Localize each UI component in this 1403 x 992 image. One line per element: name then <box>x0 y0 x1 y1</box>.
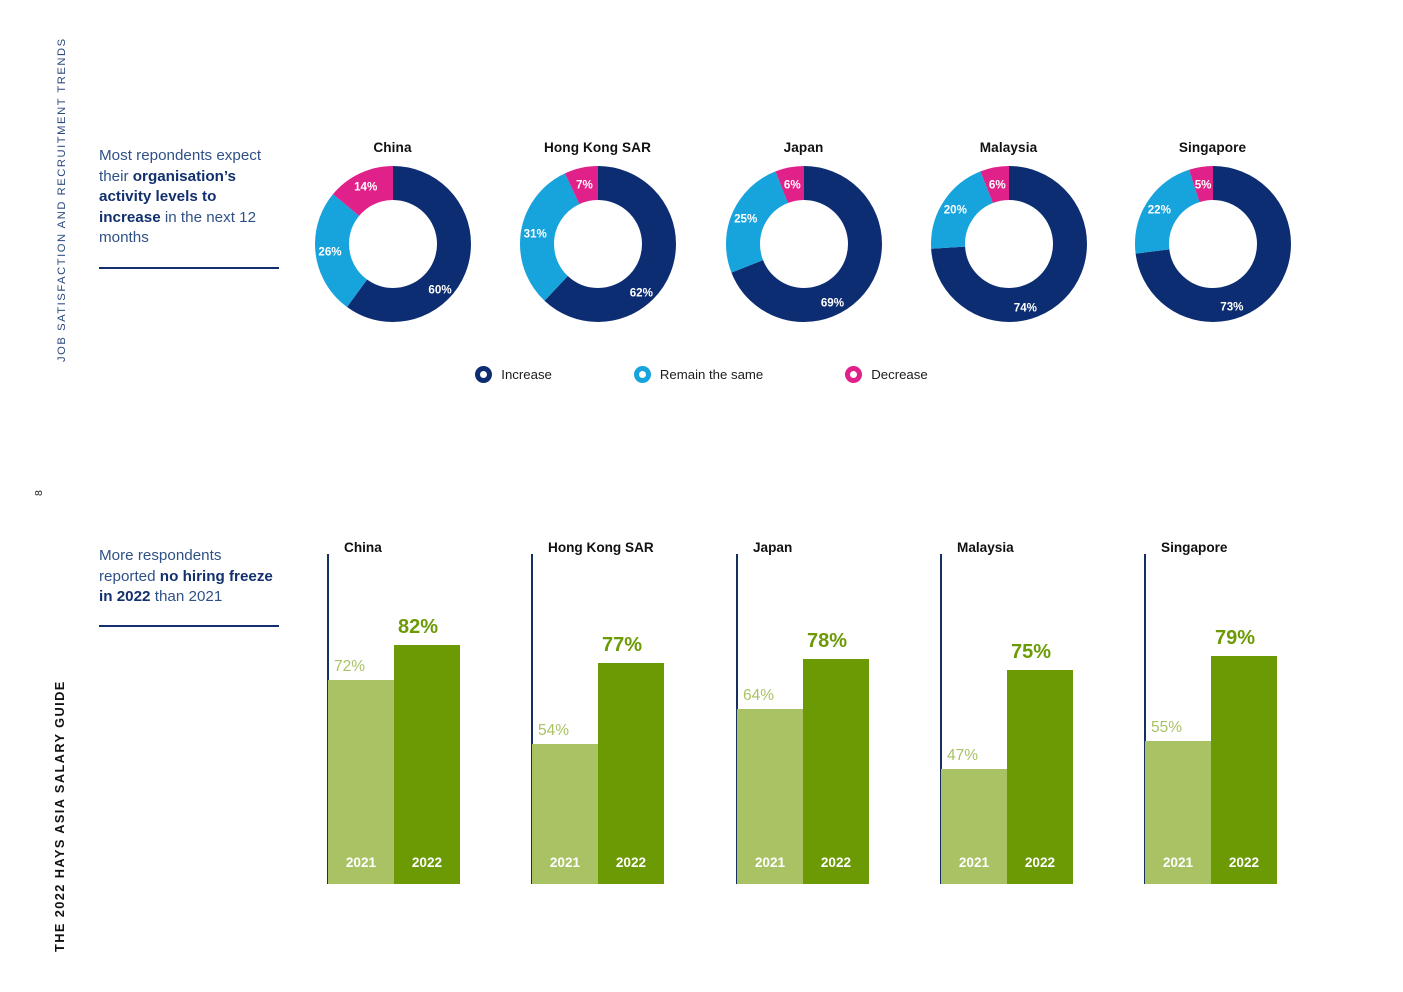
bar-plot-area: 202164%202278% <box>737 554 951 884</box>
bar-plot-area: 202155%202279% <box>1145 554 1359 884</box>
bar-y2021[interactable]: 2021 <box>737 709 803 884</box>
bar-panel-title: Japan <box>753 540 792 555</box>
bar-y2022[interactable]: 2022 <box>803 659 869 884</box>
bar-panel-title: Malaysia <box>957 540 1014 555</box>
bar-year-label: 2022 <box>1211 855 1277 870</box>
bar-card: Singapore202155%202279% <box>1144 540 1359 890</box>
bar-year-label: 2022 <box>394 855 460 870</box>
bar-y2022[interactable]: 2022 <box>598 663 664 884</box>
bar-year-label: 2021 <box>1145 855 1211 870</box>
bar-card: Hong Kong SAR202154%202277% <box>531 540 746 890</box>
bar-year-label: 2022 <box>1007 855 1073 870</box>
hiring-freeze-bar-chart-group: China202172%202282% Hong Kong SAR202154%… <box>0 0 1403 992</box>
bar-value-label: 78% <box>807 630 847 653</box>
bar-panel-title: Singapore <box>1161 540 1227 555</box>
bar-year-label: 2021 <box>328 855 394 870</box>
bar-y2021[interactable]: 2021 <box>328 680 394 884</box>
bar-value-label: 54% <box>538 722 569 740</box>
bar-value-label: 47% <box>947 747 978 765</box>
bar-card: China202172%202282% <box>327 540 542 890</box>
bar-value-label: 79% <box>1215 627 1255 650</box>
bar-year-label: 2022 <box>803 855 869 870</box>
bar-value-label: 72% <box>334 658 365 676</box>
bar-value-label: 82% <box>398 616 438 639</box>
bar-value-label: 77% <box>602 634 642 657</box>
bar-value-label: 75% <box>1011 641 1051 664</box>
bar-y2022[interactable]: 2022 <box>394 645 460 884</box>
bar-year-label: 2021 <box>737 855 803 870</box>
bar-year-label: 2022 <box>598 855 664 870</box>
bar-value-label: 55% <box>1151 719 1182 737</box>
bar-value-label: 64% <box>743 687 774 705</box>
bar-year-label: 2021 <box>941 855 1007 870</box>
bar-y2021[interactable]: 2021 <box>532 744 598 884</box>
bar-y2022[interactable]: 2022 <box>1211 656 1277 884</box>
bar-panel-title: China <box>344 540 382 555</box>
bar-card: Malaysia202147%202275% <box>940 540 1155 890</box>
bar-plot-area: 202154%202277% <box>532 554 746 884</box>
bar-y2021[interactable]: 2021 <box>941 769 1007 884</box>
bar-plot-area: 202172%202282% <box>328 554 542 884</box>
bar-panel-title: Hong Kong SAR <box>548 540 654 555</box>
bar-y2021[interactable]: 2021 <box>1145 741 1211 884</box>
bar-year-label: 2021 <box>532 855 598 870</box>
bar-plot-area: 202147%202275% <box>941 554 1155 884</box>
bar-card: Japan202164%202278% <box>736 540 951 890</box>
bar-y2022[interactable]: 2022 <box>1007 670 1073 884</box>
